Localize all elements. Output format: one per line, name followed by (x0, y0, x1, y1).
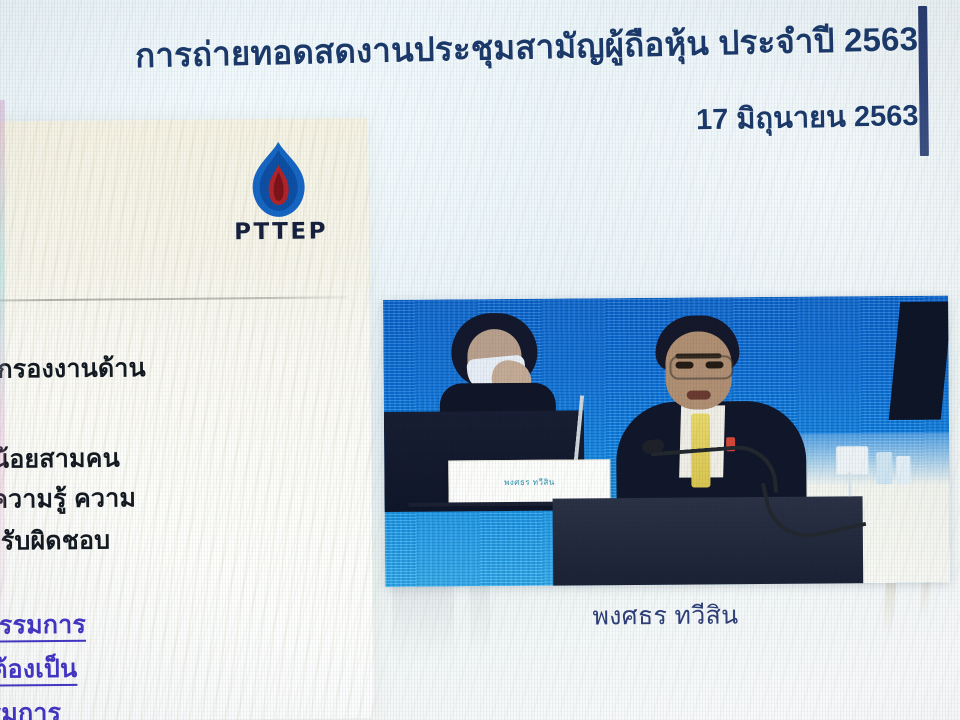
stage-object-lamp (836, 446, 868, 474)
slide-line-4: ที่ความรับผิดชอบ (0, 520, 110, 562)
stage-dark-panel (889, 302, 950, 421)
meeting-date: 17 มิถุนายน 2563 (695, 92, 918, 142)
pttep-logo: PTTEP (225, 140, 336, 261)
microphone-arm-icon (651, 443, 779, 502)
slide-line-7: ณะกรรมการ (0, 693, 61, 720)
live-broadcast-video: พงศธร ทวีสิน (383, 296, 950, 587)
presentation-slide-panel: PTTEP ยกลั่นกรองงานด้าน อย่างน้อยสามคน น… (0, 118, 374, 720)
stage-object-bottle (876, 452, 892, 484)
speaker-eye-left (675, 362, 693, 369)
page-title: การถ่ายทอดสดงานประชุมสามัญผู้ถือหุ้น ประ… (134, 12, 918, 82)
desk-nameplate-text: พงศธร ทวีสิน (449, 460, 609, 503)
slide-line-5: ด้วย กรรมการ (0, 605, 86, 646)
slide-line-2: อย่างน้อยสามคน (0, 438, 120, 480)
stage-object-lamp-stem (848, 472, 851, 496)
pttep-flame-icon (247, 141, 310, 220)
slide-line-6: นใหญ่ต้องเป็น (0, 649, 78, 690)
pttep-wordmark: PTTEP (226, 218, 336, 245)
slide-header: การถ่ายทอดสดงานประชุมสามัญผู้ถือหุ้น ประ… (0, 0, 960, 150)
speaker-eye-right (705, 361, 723, 368)
header-accent-bar (918, 6, 929, 156)
slide-line-3: นผู้ที่มีความรู้ ความ (0, 478, 136, 520)
stage-object-glass (896, 456, 910, 484)
speaker-name-caption: พงศธร ทวีสิน (383, 594, 948, 638)
slide-divider-rule (0, 296, 348, 302)
projected-slide-photo: PTTEP ยกลั่นกรองงานด้าน อย่างน้อยสามคน น… (0, 0, 960, 720)
slide-line-1: ยกลั่นกรองงานด้าน (0, 348, 146, 390)
chromatic-edge-fringe (0, 100, 5, 660)
speaker-mouth (687, 390, 711, 399)
